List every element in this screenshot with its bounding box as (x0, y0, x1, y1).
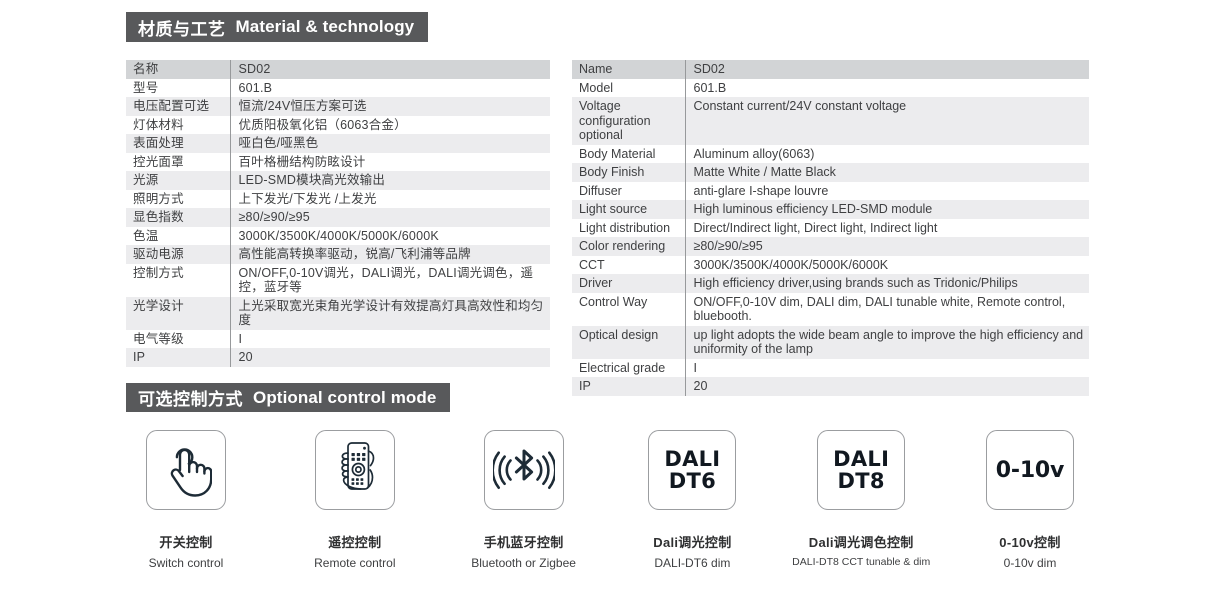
spec-row: 光源LED-SMD模块高光效输出 (126, 171, 550, 190)
spec-row-key: 光源 (126, 171, 230, 190)
spec-row-key: Light source (572, 200, 685, 219)
badge-text: 0-10v (996, 458, 1064, 483)
spec-row-value: ≥80/≥90/≥95 (230, 208, 550, 227)
spec-row-value: 高性能高转换率驱动，锐高/飞利浦等品牌 (230, 245, 550, 264)
spec-row-value: LED-SMD模块高光效输出 (230, 171, 550, 190)
spec-row: 名称SD02 (126, 60, 550, 79)
spec-row: CCT3000K/3500K/4000K/5000K/6000K (572, 256, 1089, 275)
spec-row-key: Electrical grade (572, 359, 685, 378)
spec-row-key: Body Finish (572, 163, 685, 182)
control-mode-label-cn: 手机蓝牙控制 (484, 532, 564, 551)
control-mode-item[interactable]: 遥控控制Remote control (295, 430, 415, 570)
spec-row-key: Body Material (572, 145, 685, 164)
section-header-control-en: Optional control mode (253, 388, 436, 408)
control-mode-item[interactable]: 开关控制Switch control (126, 430, 246, 570)
spec-row-key: 型号 (126, 79, 230, 98)
spec-row-value: SD02 (230, 60, 550, 79)
spec-row: NameSD02 (572, 60, 1089, 79)
spec-row: 照明方式上下发光/下发光 /上发光 (126, 190, 550, 209)
control-mode-label-en: 0-10v dim (1004, 556, 1057, 570)
spec-row-value: ≥80/≥90/≥95 (685, 237, 1089, 256)
spec-row: 控光面罩百叶格栅结构防眩设计 (126, 153, 550, 172)
spec-row-key: 控制方式 (126, 264, 230, 297)
touch-hand-icon[interactable] (146, 430, 226, 510)
spec-row: Body FinishMatte White / Matte Black (572, 163, 1089, 182)
control-mode-label-en: DALI-DT6 dim (654, 556, 730, 570)
spec-row-value: 3000K/3500K/4000K/5000K/6000K (230, 227, 550, 246)
spec-row: 色温3000K/3500K/4000K/5000K/6000K (126, 227, 550, 246)
dali-dt8-icon[interactable]: DALIDT8 (817, 430, 905, 510)
spec-row-key: 电气等级 (126, 330, 230, 349)
control-mode-label-en: Switch control (149, 556, 224, 570)
spec-row-value: ON/OFF,0-10V调光，DALI调光，DALI调光调色，遥控，蓝牙等 (230, 264, 550, 297)
spec-row: 驱动电源高性能高转换率驱动，锐高/飞利浦等品牌 (126, 245, 550, 264)
section-header-material: 材质与工艺 Material & technology (126, 12, 428, 42)
spec-row-value: 哑白色/哑黑色 (230, 134, 550, 153)
spec-row-value: I (685, 359, 1089, 378)
spec-row: Light sourceHigh luminous efficiency LED… (572, 200, 1089, 219)
badge-text: DALIDT6 (664, 448, 720, 492)
spec-row-value: 601.B (230, 79, 550, 98)
spec-row-value: 601.B (685, 79, 1089, 98)
control-mode-item[interactable]: DALIDT8Dali调光调色控制DALI-DT8 CCT tunable & … (801, 430, 921, 570)
section-header-control-cn: 可选控制方式 (138, 385, 243, 410)
spec-row-value: 上光采取宽光束角光学设计有效提高灯具高效性和均匀度 (230, 297, 550, 330)
spec-row: 控制方式ON/OFF,0-10V调光，DALI调光，DALI调光调色，遥控，蓝牙… (126, 264, 550, 297)
control-mode-label-en: Bluetooth or Zigbee (471, 556, 576, 570)
remote-hand-icon[interactable] (315, 430, 395, 510)
spec-row: 电气等级I (126, 330, 550, 349)
spec-row: 光学设计上光采取宽光束角光学设计有效提高灯具高效性和均匀度 (126, 297, 550, 330)
control-mode-label-cn: Dali调光控制 (653, 532, 731, 551)
spec-row-key: 名称 (126, 60, 230, 79)
spec-row: Control WayON/OFF,0-10V dim, DALI dim, D… (572, 293, 1089, 326)
spec-row-key: CCT (572, 256, 685, 275)
spec-row-value: SD02 (685, 60, 1089, 79)
control-mode-label-en: Remote control (314, 556, 395, 570)
spec-row-value: 上下发光/下发光 /上发光 (230, 190, 550, 209)
spec-row: Light distributionDirect/Indirect light,… (572, 219, 1089, 238)
control-mode-item[interactable]: 0-10v0-10v控制0-10v dim (970, 430, 1090, 570)
spec-row-key: 控光面罩 (126, 153, 230, 172)
control-mode-label-en: DALI-DT8 CCT tunable & dim (792, 556, 930, 568)
spec-row-key: 灯体材料 (126, 116, 230, 135)
spec-table-english: NameSD02Model601.BVoltage configuration … (572, 60, 1089, 396)
spec-row-value: 20 (230, 348, 550, 367)
spec-row-key: 驱动电源 (126, 245, 230, 264)
spec-row-value: up light adopts the wide beam angle to i… (685, 326, 1089, 359)
spec-row-key: 光学设计 (126, 297, 230, 330)
spec-row-key: Diffuser (572, 182, 685, 201)
spec-row: 灯体材料优质阳极氧化铝（6063合金） (126, 116, 550, 135)
dali-dt6-icon[interactable]: DALIDT6 (648, 430, 736, 510)
spec-row: Body MaterialAluminum alloy(6063) (572, 145, 1089, 164)
control-mode-label-cn: 0-10v控制 (999, 532, 1060, 551)
control-mode-label-cn: 开关控制 (159, 532, 212, 551)
spec-row-value: High efficiency driver,using brands such… (685, 274, 1089, 293)
spec-row: 显色指数≥80/≥90/≥95 (126, 208, 550, 227)
spec-row-key: 电压配置可选 (126, 97, 230, 116)
spec-row-key: 表面处理 (126, 134, 230, 153)
spec-row-value: 优质阳极氧化铝（6063合金） (230, 116, 550, 135)
spec-row-value: Aluminum alloy(6063) (685, 145, 1089, 164)
control-mode-list: 开关控制Switch control (126, 430, 1090, 570)
spec-row: Voltage configuration optionalConstant c… (572, 97, 1089, 145)
spec-row-value: Direct/Indirect light, Direct light, Ind… (685, 219, 1089, 238)
spec-row: Electrical gradeI (572, 359, 1089, 378)
spec-row-key: Light distribution (572, 219, 685, 238)
spec-row: 表面处理哑白色/哑黑色 (126, 134, 550, 153)
spec-row: DriverHigh efficiency driver,using brand… (572, 274, 1089, 293)
spec-row: 电压配置可选恒流/24V恒压方案可选 (126, 97, 550, 116)
spec-row-value: 百叶格栅结构防眩设计 (230, 153, 550, 172)
spec-row-value: High luminous efficiency LED-SMD module (685, 200, 1089, 219)
spec-row-value: 恒流/24V恒压方案可选 (230, 97, 550, 116)
spec-row: Optical designup light adopts the wide b… (572, 326, 1089, 359)
spec-row-key: Name (572, 60, 685, 79)
spec-row-value: Matte White / Matte Black (685, 163, 1089, 182)
control-mode-item[interactable]: 手机蓝牙控制Bluetooth or Zigbee (464, 430, 584, 570)
spec-row-key: Control Way (572, 293, 685, 326)
spec-table-chinese: 名称SD02型号601.B电压配置可选恒流/24V恒压方案可选灯体材料优质阳极氧… (126, 60, 550, 367)
bluetooth-wifi-icon[interactable] (484, 430, 564, 510)
spec-row-key: IP (126, 348, 230, 367)
spec-row-key: 色温 (126, 227, 230, 246)
badge-text: DALIDT8 (833, 448, 889, 492)
spec-row-value: 3000K/3500K/4000K/5000K/6000K (685, 256, 1089, 275)
spec-row-key: IP (572, 377, 685, 396)
control-mode-label-cn: 遥控控制 (328, 532, 381, 551)
control-mode-item[interactable]: DALIDT6Dali调光控制DALI-DT6 dim (632, 430, 752, 570)
spec-row: IP20 (572, 377, 1089, 396)
spec-row-value: ON/OFF,0-10V dim, DALI dim, DALI tunable… (685, 293, 1089, 326)
section-header-material-en: Material & technology (236, 17, 415, 37)
spec-row-key: Driver (572, 274, 685, 293)
spec-row: Color rendering≥80/≥90/≥95 (572, 237, 1089, 256)
spec-row-key: 照明方式 (126, 190, 230, 209)
spec-row: 型号601.B (126, 79, 550, 98)
spec-row: Model601.B (572, 79, 1089, 98)
spec-row-key: 显色指数 (126, 208, 230, 227)
spec-table-chinese-body: 名称SD02型号601.B电压配置可选恒流/24V恒压方案可选灯体材料优质阳极氧… (126, 60, 550, 367)
spec-row: IP20 (126, 348, 550, 367)
spec-table-english-body: NameSD02Model601.BVoltage configuration … (572, 60, 1089, 396)
spec-row-value: 20 (685, 377, 1089, 396)
section-header-control-mode: 可选控制方式 Optional control mode (126, 383, 450, 412)
spec-row-value: anti-glare I-shape louvre (685, 182, 1089, 201)
spec-row-key: Color rendering (572, 237, 685, 256)
spec-row: Diffuseranti-glare I-shape louvre (572, 182, 1089, 201)
spec-row-key: Voltage configuration optional (572, 97, 685, 145)
zero-to-ten-volt-icon[interactable]: 0-10v (986, 430, 1074, 510)
spec-row-key: Model (572, 79, 685, 98)
spec-row-key: Optical design (572, 326, 685, 359)
spec-row-value: Constant current/24V constant voltage (685, 97, 1089, 145)
control-mode-label-cn: Dali调光调色控制 (809, 532, 914, 551)
spec-row-value: I (230, 330, 550, 349)
section-header-material-cn: 材质与工艺 (138, 15, 226, 40)
